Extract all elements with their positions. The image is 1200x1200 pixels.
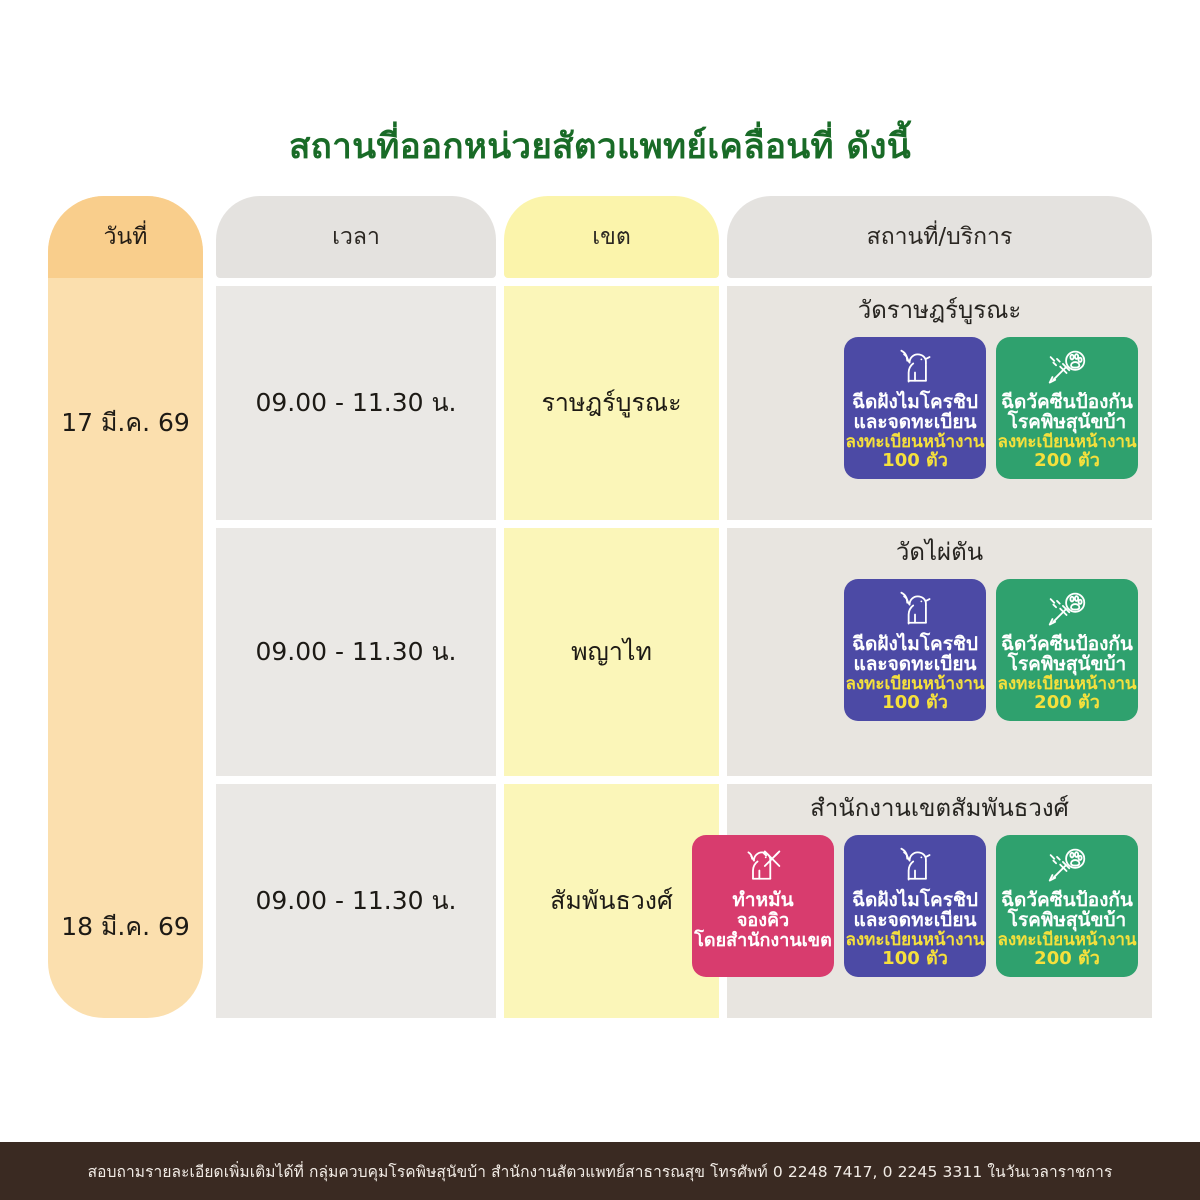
badge-line-2: และจดทะเบียน <box>854 911 977 931</box>
badge-note: ลงทะเบียนหน้างาน <box>997 931 1136 950</box>
badge-capacity: 200 ตัว <box>1034 949 1100 969</box>
time-cell: 09.00 - 11.30 น. <box>216 784 496 1018</box>
service-badge: ฉีดวัคซีนป้องกันโรคพิษสุนัขบ้าลงทะเบียนห… <box>996 337 1138 479</box>
badge-line-2: โรคพิษสุนัขบ้า <box>1008 413 1126 433</box>
badge-capacity: 200 ตัว <box>1034 693 1100 713</box>
badge-capacity: 100 ตัว <box>882 949 948 969</box>
service-badge: ฉีดวัคซีนป้องกันโรคพิษสุนัขบ้าลงทะเบียนห… <box>996 579 1138 721</box>
rabies-vaccine-paw-icon <box>1045 843 1089 889</box>
dog-sterilization-icon <box>741 843 785 889</box>
badge-line-1: ฉีดวัคซีนป้องกัน <box>1001 635 1133 655</box>
venue-name: วัดไผ่ตัน <box>896 538 983 567</box>
date-cell <box>48 568 203 836</box>
time-cell: 09.00 - 11.30 น. <box>216 286 496 520</box>
badge-line-2: จองคิว <box>737 911 789 931</box>
badge-note: ลงทะเบียนหน้างาน <box>997 433 1136 452</box>
badge-note: โดยสำนักงานเขต <box>694 931 832 951</box>
date-cell: 17 มี.ค. 69 <box>48 278 203 568</box>
service-badge: ฉีดฝังไมโครชิปและจดทะเบียนลงทะเบียนหน้าง… <box>844 835 986 977</box>
column-header-date: วันที่ <box>48 196 203 278</box>
badge-line-2: และจดทะเบียน <box>854 413 977 433</box>
footer-bar: สอบถามรายละเอียดเพิ่มเติมได้ที่ กลุ่มควบ… <box>0 1142 1200 1200</box>
service-badge: ฉีดฝังไมโครชิปและจดทะเบียนลงทะเบียนหน้าง… <box>844 337 986 479</box>
badge-group: ฉีดฝังไมโครชิปและจดทะเบียนลงทะเบียนหน้าง… <box>735 579 1144 721</box>
zone-cell: ราษฎร์บูรณะ <box>504 286 719 520</box>
service-cell: วัดราษฎร์บูรณะ ฉีดฝังไมโครชิปและจดทะเบีย… <box>727 286 1152 520</box>
date-column: วันที่ 17 มี.ค. 69 18 มี.ค. 69 <box>48 196 203 1018</box>
page-title: สถานที่ออกหน่วยสัตวแพทย์เคลื่อนที่ ดังนี… <box>0 126 1200 168</box>
zone-cell: พญาไท <box>504 528 719 776</box>
service-badge: ทำหมันจองคิวโดยสำนักงานเขต <box>692 835 834 977</box>
column-header-time: เวลา <box>216 196 496 278</box>
venue-name: สำนักงานเขตสัมพันธวงศ์ <box>810 794 1069 823</box>
badge-line-2: โรคพิษสุนัขบ้า <box>1008 911 1126 931</box>
badge-note: ลงทะเบียนหน้างาน <box>845 675 984 694</box>
badge-line-1: ทำหมัน <box>732 891 793 911</box>
badge-line-2: โรคพิษสุนัขบ้า <box>1008 655 1126 675</box>
service-cell: วัดไผ่ตัน ฉีดฝังไมโครชิปและจดทะเบียนลงทะ… <box>727 528 1152 776</box>
service-badge: ฉีดวัคซีนป้องกันโรคพิษสุนัขบ้าลงทะเบียนห… <box>996 835 1138 977</box>
poster: สถานที่ออกหน่วยสัตวแพทย์เคลื่อนที่ ดังนี… <box>0 0 1200 1200</box>
schedule-table: วันที่ 17 มี.ค. 69 18 มี.ค. 69 เวลา 09.0… <box>48 196 1152 1018</box>
badge-line-1: ฉีดวัคซีนป้องกัน <box>1001 393 1133 413</box>
badge-line-1: ฉีดฝังไมโครชิป <box>852 393 978 413</box>
footer-contact-text: สอบถามรายละเอียดเพิ่มเติมได้ที่ กลุ่มควบ… <box>88 1159 1113 1184</box>
date-cell: 18 มี.ค. 69 <box>48 836 203 1018</box>
badge-capacity: 200 ตัว <box>1034 451 1100 471</box>
time-cell: 09.00 - 11.30 น. <box>216 528 496 776</box>
badge-line-2: และจดทะเบียน <box>854 655 977 675</box>
badge-capacity: 100 ตัว <box>882 451 948 471</box>
venue-name: วัดราษฎร์บูรณะ <box>858 296 1022 325</box>
badge-note: ลงทะเบียนหน้างาน <box>997 675 1136 694</box>
service-badge: ฉีดฝังไมโครชิปและจดทะเบียนลงทะเบียนหน้าง… <box>844 579 986 721</box>
service-cell: สำนักงานเขตสัมพันธวงศ์ ทำหมันจองคิวโดยสำ… <box>727 784 1152 1018</box>
dog-microchip-icon <box>893 843 937 889</box>
badge-line-1: ฉีดฝังไมโครชิป <box>852 635 978 655</box>
badge-group: ทำหมันจองคิวโดยสำนักงานเขตฉีดฝังไมโครชิป… <box>735 835 1144 977</box>
badge-capacity: 100 ตัว <box>882 693 948 713</box>
badge-group: ฉีดฝังไมโครชิปและจดทะเบียนลงทะเบียนหน้าง… <box>735 337 1144 479</box>
dog-microchip-icon <box>893 345 937 391</box>
rabies-vaccine-paw-icon <box>1045 587 1089 633</box>
badge-note: ลงทะเบียนหน้างาน <box>845 433 984 452</box>
zone-cell: สัมพันธวงศ์ <box>504 784 719 1018</box>
column-header-service: สถานที่/บริการ <box>727 196 1152 278</box>
column-header-zone: เขต <box>504 196 719 278</box>
dog-microchip-icon <box>893 587 937 633</box>
badge-line-1: ฉีดฝังไมโครชิป <box>852 891 978 911</box>
rabies-vaccine-paw-icon <box>1045 345 1089 391</box>
badge-note: ลงทะเบียนหน้างาน <box>845 931 984 950</box>
badge-line-1: ฉีดวัคซีนป้องกัน <box>1001 891 1133 911</box>
